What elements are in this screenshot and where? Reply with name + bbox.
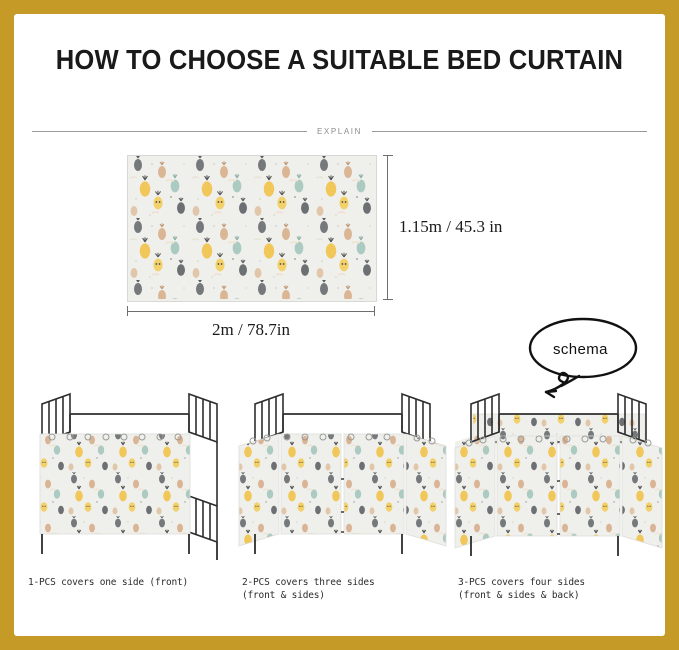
bed-diagram-three-sides — [235, 384, 450, 564]
width-label: 2m / 78.7in — [127, 320, 375, 340]
caption-line-1: 1-PCS covers one side (front) — [28, 577, 243, 590]
bed-illustration-three-sides — [235, 384, 450, 564]
caption-line-1: 3-PCS covers four sides — [458, 577, 665, 590]
dimension-line-horizontal — [127, 311, 375, 312]
gold-border-frame: HOW TO CHOOSE A SUITABLE BED CURTAIN EXP… — [0, 0, 679, 650]
dimension-cap-bottom — [383, 299, 393, 300]
caption-three-sides: 2-PCS covers three sides (front & sides) — [242, 577, 457, 602]
width-dimension-line — [127, 306, 375, 316]
fabric-swatch — [127, 155, 377, 302]
caption-four-sides: 3-PCS covers four sides (front & sides &… — [458, 577, 665, 602]
caption-line-1: 2-PCS covers three sides — [242, 577, 457, 590]
caption-line-2: (front & sides) — [242, 590, 457, 603]
fabric-swatch-pattern — [128, 156, 374, 299]
bed-illustration-four-sides — [451, 384, 665, 564]
height-dimension-line — [383, 155, 393, 300]
height-label: 1.15m / 45.3 in — [399, 217, 502, 237]
bed-diagram-one-side — [22, 384, 237, 564]
infographic-page: HOW TO CHOOSE A SUITABLE BED CURTAIN EXP… — [14, 14, 665, 636]
dimension-cap-right — [374, 306, 375, 316]
caption-one-side: 1-PCS covers one side (front) — [28, 577, 243, 590]
bed-illustration-front — [22, 384, 237, 564]
bed-diagram-four-sides — [451, 384, 665, 564]
dimension-line-vertical — [387, 155, 388, 300]
caption-line-2: (front & sides & back) — [458, 590, 665, 603]
dimension-cap-top — [383, 155, 393, 156]
schema-label: schema — [553, 341, 608, 358]
